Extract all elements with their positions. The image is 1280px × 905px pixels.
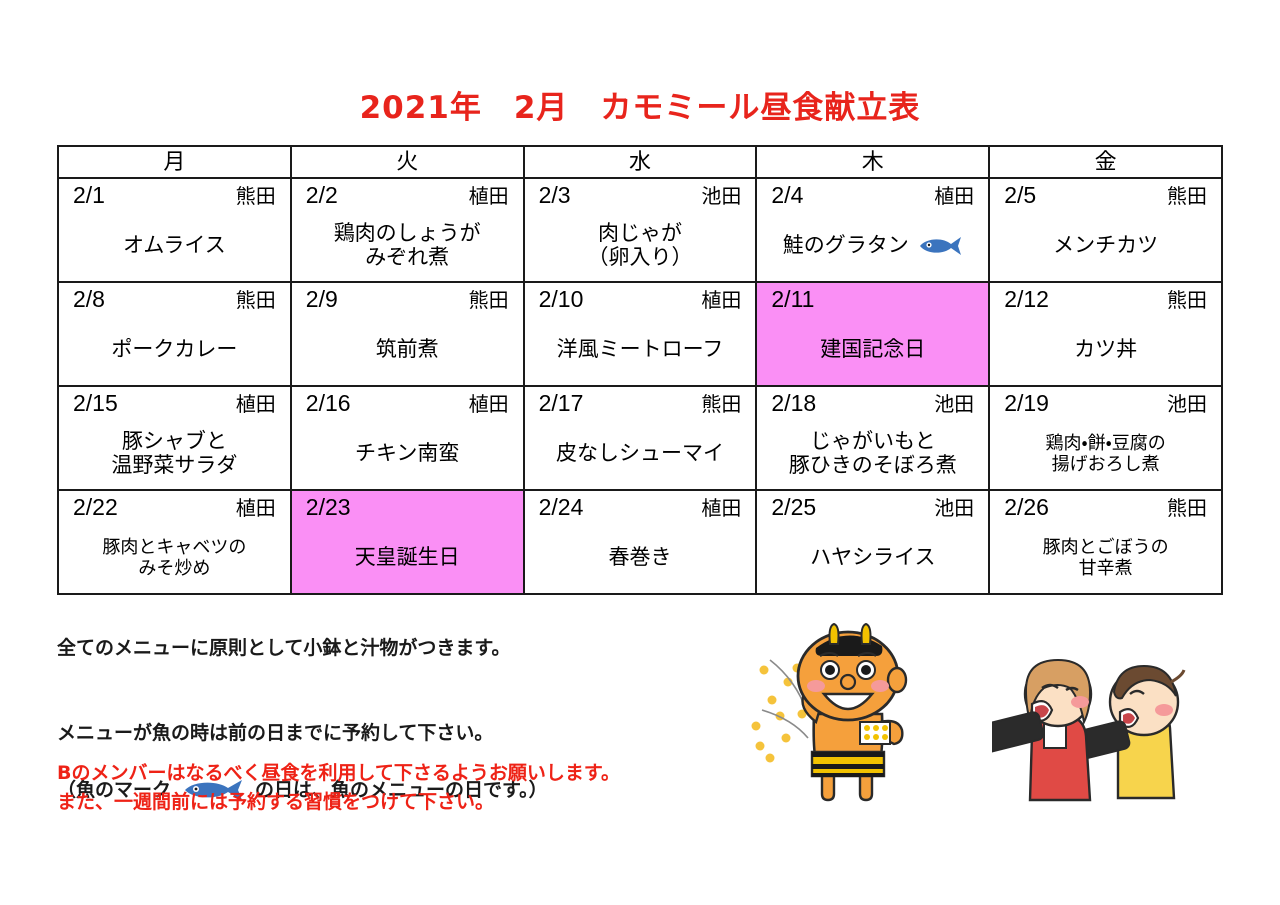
- day-cell-header: 2/17 熊田: [525, 387, 756, 419]
- day-cell-inner: 2/4 植田 鮭のグラタン: [757, 179, 988, 281]
- day-cell[interactable]: 2/18 池田 じゃがいもと 豚ひきのそぼろ煮: [756, 386, 989, 490]
- fish-icon: [917, 236, 963, 256]
- day-menu-text: 建国記念日: [820, 338, 925, 362]
- day-menu: じゃがいもと 豚ひきのそぼろ煮: [757, 421, 988, 487]
- day-staff: 熊田: [236, 287, 276, 315]
- day-date: 2/16: [306, 389, 351, 417]
- day-menu-text: 天皇誕生日: [355, 546, 460, 570]
- day-date: 2/3: [539, 181, 571, 209]
- day-cell[interactable]: 2/3 池田 肉じゃが （卵入り）: [524, 178, 757, 282]
- day-cell-inner: 2/15 植田 豚シャブと 温野菜サラダ: [59, 387, 290, 489]
- day-date: 2/5: [1004, 181, 1036, 209]
- day-cell-inner: 2/16 植田 チキン南蛮: [292, 387, 523, 489]
- day-date: 2/10: [539, 285, 584, 313]
- day-header-thu: 木: [756, 146, 989, 178]
- day-menu-text: オムライス: [123, 234, 226, 258]
- day-date: 2/11: [771, 285, 814, 313]
- day-staff: 熊田: [1167, 287, 1207, 315]
- day-header-tue: 火: [291, 146, 524, 178]
- day-header-mon: 月: [58, 146, 291, 178]
- calendar-week-row: 2/22 植田 豚肉とキャベツの みそ炒め 2/23 天皇誕生日: [58, 490, 1222, 594]
- day-menu-text: 洋風ミートローフ: [557, 338, 724, 362]
- calendar-header-row: 月 火 水 木 金: [58, 146, 1222, 178]
- day-cell-inner: 2/26 熊田 豚肉とごぼうの 甘辛煮: [990, 491, 1221, 593]
- day-menu: 鶏肉のしょうが みぞれ煮: [292, 213, 523, 279]
- day-staff: 植田: [701, 495, 741, 523]
- day-date: 2/17: [539, 389, 584, 417]
- day-staff: 熊田: [701, 391, 741, 419]
- day-date: 2/26: [1004, 493, 1049, 521]
- day-menu: 春巻き: [525, 525, 756, 591]
- day-cell-inner: 2/12 熊田 カツ丼: [990, 283, 1221, 385]
- day-holiday-label: 建国記念日: [757, 317, 988, 383]
- day-cell-header: 2/12 熊田: [990, 283, 1221, 315]
- day-date: 2/8: [73, 285, 105, 313]
- children-eating-ehomaki-icon: [992, 648, 1207, 818]
- day-cell[interactable]: 2/5 熊田 メンチカツ: [989, 178, 1222, 282]
- day-menu-text: 鶏肉のしょうが みぞれ煮: [334, 222, 481, 271]
- day-cell-header: 2/2 植田: [292, 179, 523, 211]
- day-menu-text: 筑前煮: [376, 338, 439, 362]
- day-menu-text: 豚肉とごぼうの 甘辛煮: [1043, 537, 1169, 579]
- day-cell[interactable]: 2/22 植田 豚肉とキャベツの みそ炒め: [58, 490, 291, 594]
- day-menu: 豚肉とキャベツの みそ炒め: [59, 525, 290, 591]
- calendar-week-row: 2/8 熊田 ポークカレー 2/9 熊田 筑前煮: [58, 282, 1222, 386]
- note-side-dishes: 全てのメニューに原則として小鉢と汁物がつきます。: [57, 634, 511, 663]
- day-staff: 植田: [236, 391, 276, 419]
- day-cell[interactable]: 2/10 植田 洋風ミートローフ: [524, 282, 757, 386]
- day-menu-text: じゃがいもと 豚ひきのそぼろ煮: [789, 430, 957, 479]
- day-date: 2/9: [306, 285, 338, 313]
- day-cell-inner: 2/25 池田 ハヤシライス: [757, 491, 988, 593]
- day-cell-inner: 2/11 建国記念日: [757, 283, 988, 385]
- day-date: 2/1: [73, 181, 105, 209]
- day-cell-header: 2/11: [757, 283, 988, 313]
- day-cell-header: 2/26 熊田: [990, 491, 1221, 523]
- day-date: 2/19: [1004, 389, 1049, 417]
- day-cell[interactable]: 2/9 熊田 筑前煮: [291, 282, 524, 386]
- day-menu: メンチカツ: [990, 213, 1221, 279]
- day-menu: 鮭のグラタン: [757, 213, 988, 279]
- day-date: 2/18: [771, 389, 816, 417]
- day-menu-text: ポークカレー: [111, 338, 237, 362]
- day-cell[interactable]: 2/26 熊田 豚肉とごぼうの 甘辛煮: [989, 490, 1222, 594]
- note-fish-line1: メニューが魚の時は前の日までに予約して下さい。: [57, 719, 548, 748]
- day-cell-header: 2/19 池田: [990, 387, 1221, 419]
- day-cell[interactable]: 2/25 池田 ハヤシライス: [756, 490, 989, 594]
- day-cell-inner: 2/2 植田 鶏肉のしょうが みぞれ煮: [292, 179, 523, 281]
- day-cell[interactable]: 2/2 植田 鶏肉のしょうが みぞれ煮: [291, 178, 524, 282]
- day-menu: 肉じゃが （卵入り）: [525, 213, 756, 279]
- day-cell[interactable]: 2/19 池田 鶏肉・餅・豆腐の 揚げおろし煮: [989, 386, 1222, 490]
- day-header-wed: 水: [524, 146, 757, 178]
- day-menu-text: メンチカツ: [1053, 234, 1158, 258]
- day-date: 2/12: [1004, 285, 1049, 313]
- day-cell-header: 2/3 池田: [525, 179, 756, 211]
- day-menu: ハヤシライス: [757, 525, 988, 591]
- day-cell-header: 2/25 池田: [757, 491, 988, 523]
- day-staff: 植田: [934, 183, 974, 211]
- day-cell-header: 2/8 熊田: [59, 283, 290, 315]
- day-cell-holiday[interactable]: 2/23 天皇誕生日: [291, 490, 524, 594]
- day-date: 2/22: [73, 493, 118, 521]
- day-cell-inner: 2/3 池田 肉じゃが （卵入り）: [525, 179, 756, 281]
- day-staff: 池田: [934, 495, 974, 523]
- day-staff: 池田: [701, 183, 741, 211]
- day-menu: オムライス: [59, 213, 290, 279]
- oni-throwing-beans-icon: [742, 618, 972, 818]
- day-cell-inner: 2/18 池田 じゃがいもと 豚ひきのそぼろ煮: [757, 387, 988, 489]
- day-menu: チキン南蛮: [292, 421, 523, 487]
- day-cell-holiday[interactable]: 2/11 建国記念日: [756, 282, 989, 386]
- day-cell-header: 2/18 池田: [757, 387, 988, 419]
- day-date: 2/24: [539, 493, 584, 521]
- day-date: 2/2: [306, 181, 338, 209]
- day-cell[interactable]: 2/17 熊田 皮なしシューマイ: [524, 386, 757, 490]
- day-cell-header: 2/9 熊田: [292, 283, 523, 315]
- day-staff: 熊田: [469, 287, 509, 315]
- day-staff: 熊田: [1167, 183, 1207, 211]
- day-cell-header: 2/24 植田: [525, 491, 756, 523]
- day-staff: 植田: [469, 183, 509, 211]
- day-staff: 植田: [701, 287, 741, 315]
- day-menu: ポークカレー: [59, 317, 290, 383]
- day-staff: 池田: [934, 391, 974, 419]
- day-cell-header: 2/10 植田: [525, 283, 756, 315]
- day-menu: 皮なしシューマイ: [525, 421, 756, 487]
- day-menu-text: 鮭のグラタン: [783, 234, 909, 257]
- day-cell[interactable]: 2/16 植田 チキン南蛮: [291, 386, 524, 490]
- day-menu-text: 春巻き: [608, 546, 671, 570]
- day-cell-inner: 2/8 熊田 ポークカレー: [59, 283, 290, 385]
- day-cell-header: 2/15 植田: [59, 387, 290, 419]
- day-staff: 熊田: [236, 183, 276, 211]
- day-cell[interactable]: 2/4 植田 鮭のグラタン: [756, 178, 989, 282]
- day-header-fri: 金: [989, 146, 1222, 178]
- day-cell[interactable]: 2/1 熊田 オムライス: [58, 178, 291, 282]
- day-date: 2/15: [73, 389, 118, 417]
- day-menu-text: 豚シャブと 温野菜サラダ: [111, 430, 237, 479]
- day-menu-text: チキン南蛮: [355, 442, 459, 466]
- day-menu-text: 皮なしシューマイ: [556, 442, 724, 466]
- calendar-week-row: 2/15 植田 豚シャブと 温野菜サラダ 2/16 植田 チキン南蛮: [58, 386, 1222, 490]
- day-menu-text: 肉じゃが （卵入り）: [587, 222, 692, 271]
- day-staff: 池田: [1167, 391, 1207, 419]
- day-cell-header: 2/1 熊田: [59, 179, 290, 211]
- day-date: 2/25: [771, 493, 816, 521]
- day-cell-inner: 2/23 天皇誕生日: [292, 491, 523, 593]
- day-cell-inner: 2/22 植田 豚肉とキャベツの みそ炒め: [59, 491, 290, 593]
- day-cell-inner: 2/5 熊田 メンチカツ: [990, 179, 1221, 281]
- day-cell-header: 2/23: [292, 491, 523, 521]
- day-cell-inner: 2/17 熊田 皮なしシューマイ: [525, 387, 756, 489]
- page-title: 2021年 2月 カモミール昼食献立表: [0, 82, 1280, 127]
- day-menu: 鶏肉・餅・豆腐の 揚げおろし煮: [990, 421, 1221, 487]
- day-cell[interactable]: 2/8 熊田 ポークカレー: [58, 282, 291, 386]
- day-staff: 熊田: [1167, 495, 1207, 523]
- day-cell-header: 2/16 植田: [292, 387, 523, 419]
- day-menu: 豚肉とごぼうの 甘辛煮: [990, 525, 1221, 591]
- day-date: 2/23: [306, 493, 351, 521]
- day-cell[interactable]: 2/24 植田 春巻き: [524, 490, 757, 594]
- day-menu-text: カツ丼: [1074, 338, 1137, 362]
- day-cell-inner: 2/10 植田 洋風ミートローフ: [525, 283, 756, 385]
- day-cell[interactable]: 2/12 熊田 カツ丼: [989, 282, 1222, 386]
- day-date: 2/4: [771, 181, 803, 209]
- day-cell-header: 2/4 植田: [757, 179, 988, 211]
- day-cell-inner: 2/19 池田 鶏肉・餅・豆腐の 揚げおろし煮: [990, 387, 1221, 489]
- day-cell-inner: 2/1 熊田 オムライス: [59, 179, 290, 281]
- note-b-member-request: Bのメンバーはなるべく昼食を利用して下さるようお願いします。 また、一週間前には…: [57, 759, 620, 818]
- day-cell[interactable]: 2/15 植田 豚シャブと 温野菜サラダ: [58, 386, 291, 490]
- day-staff: 植田: [469, 391, 509, 419]
- day-staff: 植田: [236, 495, 276, 523]
- lunch-menu-calendar: 月 火 水 木 金 2/1 熊田 オムライス: [57, 145, 1223, 595]
- day-cell-inner: 2/24 植田 春巻き: [525, 491, 756, 593]
- day-menu-text: ハヤシライス: [810, 546, 935, 570]
- day-menu-text: 鶏肉・餅・豆腐の 揚げおろし煮: [1045, 433, 1165, 475]
- day-menu: 洋風ミートローフ: [525, 317, 756, 383]
- day-menu: 豚シャブと 温野菜サラダ: [59, 421, 290, 487]
- day-menu: カツ丼: [990, 317, 1221, 383]
- day-menu: 筑前煮: [292, 317, 523, 383]
- day-cell-header: 2/5 熊田: [990, 179, 1221, 211]
- day-holiday-label: 天皇誕生日: [292, 525, 523, 591]
- calendar-week-row: 2/1 熊田 オムライス 2/2 植田 鶏肉のしょうが みぞれ煮: [58, 178, 1222, 282]
- day-cell-inner: 2/9 熊田 筑前煮: [292, 283, 523, 385]
- day-menu-text: 豚肉とキャベツの みそ炒め: [102, 537, 246, 579]
- day-cell-header: 2/22 植田: [59, 491, 290, 523]
